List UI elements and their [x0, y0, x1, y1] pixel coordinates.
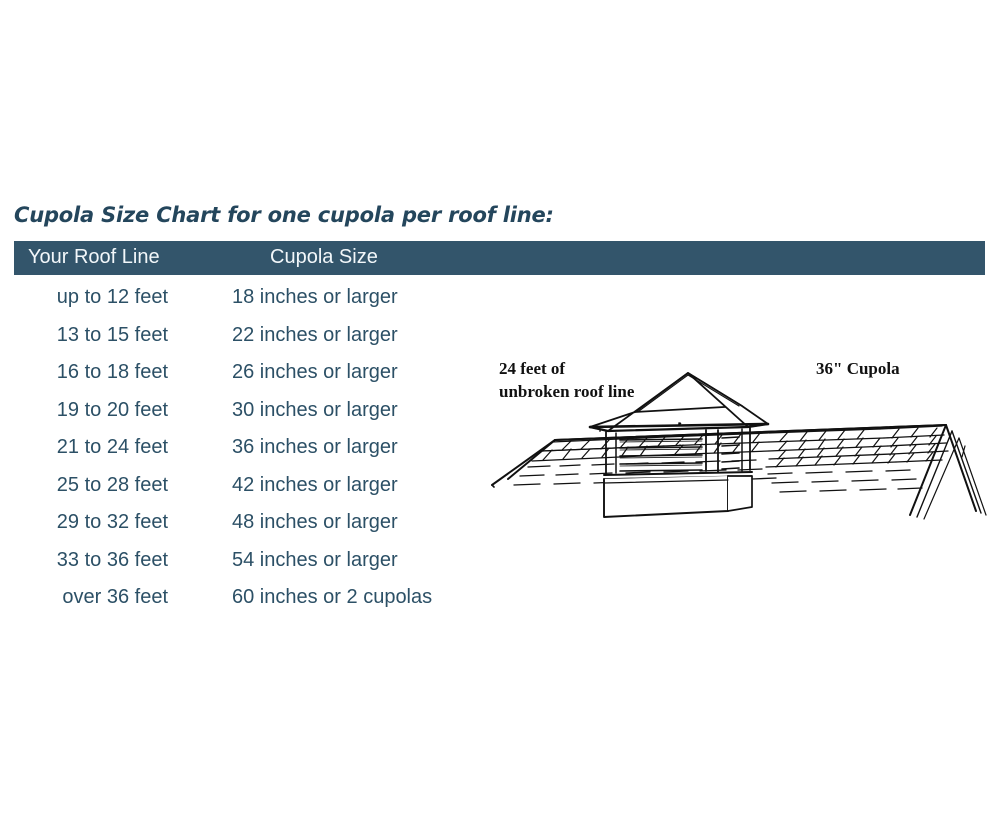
cell-roof-line: over 36 feet [14, 579, 168, 617]
cell-roof-line: 19 to 20 feet [14, 392, 168, 430]
cell-roof-line: 21 to 24 feet [14, 429, 168, 467]
cell-roof-line: 33 to 36 feet [14, 542, 168, 580]
column-header-cupola-size: Cupola Size [270, 246, 378, 269]
cell-cupola-size: 42 inches or larger [232, 467, 398, 505]
cell-cupola-size: 36 inches or larger [232, 429, 398, 467]
cell-roof-line: 16 to 18 feet [14, 354, 168, 392]
table-row: 25 to 28 feet 42 inches or larger [14, 467, 514, 505]
page-title: Cupola Size Chart for one cupola per roo… [14, 203, 554, 227]
table-row: up to 12 feet 18 inches or larger [14, 279, 514, 317]
cell-cupola-size: 54 inches or larger [232, 542, 398, 580]
table-row: 13 to 15 feet 22 inches or larger [14, 317, 514, 355]
cell-cupola-size: 30 inches or larger [232, 392, 398, 430]
table-body: up to 12 feet 18 inches or larger 13 to … [14, 279, 514, 617]
cell-roof-line: 13 to 15 feet [14, 317, 168, 355]
table-row: 19 to 20 feet 30 inches or larger [14, 392, 514, 430]
page-canvas: Cupola Size Chart for one cupola per roo… [0, 0, 1000, 820]
cell-roof-line: 29 to 32 feet [14, 504, 168, 542]
cell-cupola-size: 60 inches or 2 cupolas [232, 579, 432, 617]
cell-cupola-size: 22 inches or larger [232, 317, 398, 355]
cell-roof-line: 25 to 28 feet [14, 467, 168, 505]
cell-roof-line: up to 12 feet [14, 279, 168, 317]
table-row: over 36 feet 60 inches or 2 cupolas [14, 579, 514, 617]
column-header-your-roof-line: Your Roof Line [28, 246, 160, 269]
table-row: 29 to 32 feet 48 inches or larger [14, 504, 514, 542]
cell-cupola-size: 48 inches or larger [232, 504, 398, 542]
table-row: 16 to 18 feet 26 inches or larger [14, 354, 514, 392]
cupola-roof-illustration [480, 345, 992, 527]
table-row: 21 to 24 feet 36 inches or larger [14, 429, 514, 467]
table-row: 33 to 36 feet 54 inches or larger [14, 542, 514, 580]
cupola-roof-diagram-svg [480, 345, 992, 527]
cell-cupola-size: 18 inches or larger [232, 279, 398, 317]
table-header-row: Your Roof Line Cupola Size [14, 241, 985, 275]
cell-cupola-size: 26 inches or larger [232, 354, 398, 392]
